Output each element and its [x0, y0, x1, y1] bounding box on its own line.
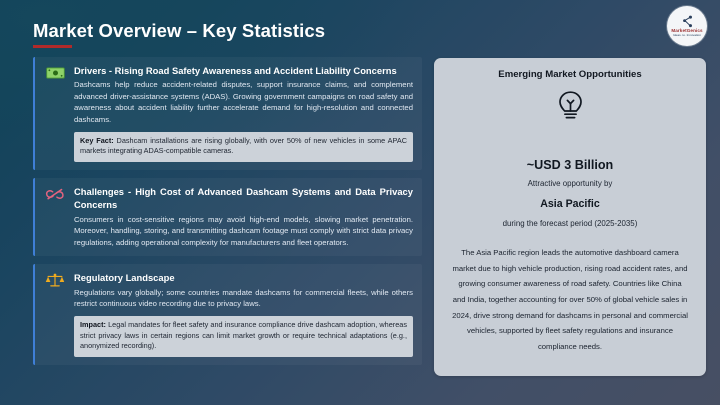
brand-tagline: Ideas. to. Innovation — [673, 34, 701, 38]
card-icon-slot — [44, 64, 66, 162]
opportunity-value: ~USD 3 Billion — [527, 158, 613, 172]
emerging-opportunities-panel: Emerging Market Opportunities ~USD 3 Bil… — [434, 58, 706, 376]
card-icon-slot — [44, 185, 66, 248]
opportunity-description: The Asia Pacific region leads the automo… — [448, 245, 692, 354]
callout-label: Impact: — [80, 320, 106, 329]
opportunity-region: Asia Pacific — [540, 198, 599, 210]
insight-card-challenges[interactable]: Challenges - High Cost of Advanced Dashc… — [33, 178, 422, 256]
callout-text: Dashcam installations are rising globall… — [80, 136, 407, 156]
slide-canvas: Market Overview – Key Statistics MarketG… — [0, 0, 720, 405]
card-icon-slot — [44, 271, 66, 357]
broken-link-icon — [45, 187, 65, 202]
brand-logo: MarketGenics Ideas. to. Innovation — [667, 6, 707, 46]
card-body: Regulatory Landscape Regulations vary gl… — [74, 271, 413, 357]
card-callout: Key Fact: Dashcam installations are risi… — [74, 132, 413, 163]
opportunity-value-caption: Attractive opportunity by — [528, 179, 613, 188]
title-underline-rule — [33, 45, 72, 48]
card-heading: Challenges - High Cost of Advanced Dashc… — [74, 185, 413, 212]
share-nodes-icon — [680, 15, 695, 28]
card-heading: Drivers - Rising Road Safety Awareness a… — [74, 64, 413, 77]
card-body: Drivers - Rising Road Safety Awareness a… — [74, 64, 413, 162]
callout-text: Legal mandates for fleet safety and insu… — [80, 320, 407, 351]
insight-card-drivers[interactable]: Drivers - Rising Road Safety Awareness a… — [33, 57, 422, 170]
card-body: Challenges - High Cost of Advanced Dashc… — [74, 185, 413, 248]
card-callout: Impact: Legal mandates for fleet safety … — [74, 316, 413, 357]
panel-title: Emerging Market Opportunities — [498, 69, 641, 80]
card-paragraph: Dashcams help reduce accident-related di… — [74, 79, 413, 125]
insight-card-regulatory[interactable]: Regulatory Landscape Regulations vary gl… — [33, 264, 422, 365]
opportunity-period: during the forecast period (2025-2035) — [503, 219, 638, 228]
card-paragraph: Regulations vary globally; some countrie… — [74, 287, 413, 310]
callout-label: Key Fact: — [80, 136, 114, 145]
card-paragraph: Consumers in cost-sensitive regions may … — [74, 214, 413, 249]
balance-scale-icon — [45, 273, 65, 288]
card-heading: Regulatory Landscape — [74, 271, 413, 284]
page-title: Market Overview – Key Statistics — [33, 20, 325, 42]
insight-card-list: Drivers - Rising Road Safety Awareness a… — [33, 57, 422, 373]
bulb-slot — [555, 90, 586, 128]
banknote-icon — [46, 66, 65, 80]
lightbulb-icon — [555, 90, 586, 123]
